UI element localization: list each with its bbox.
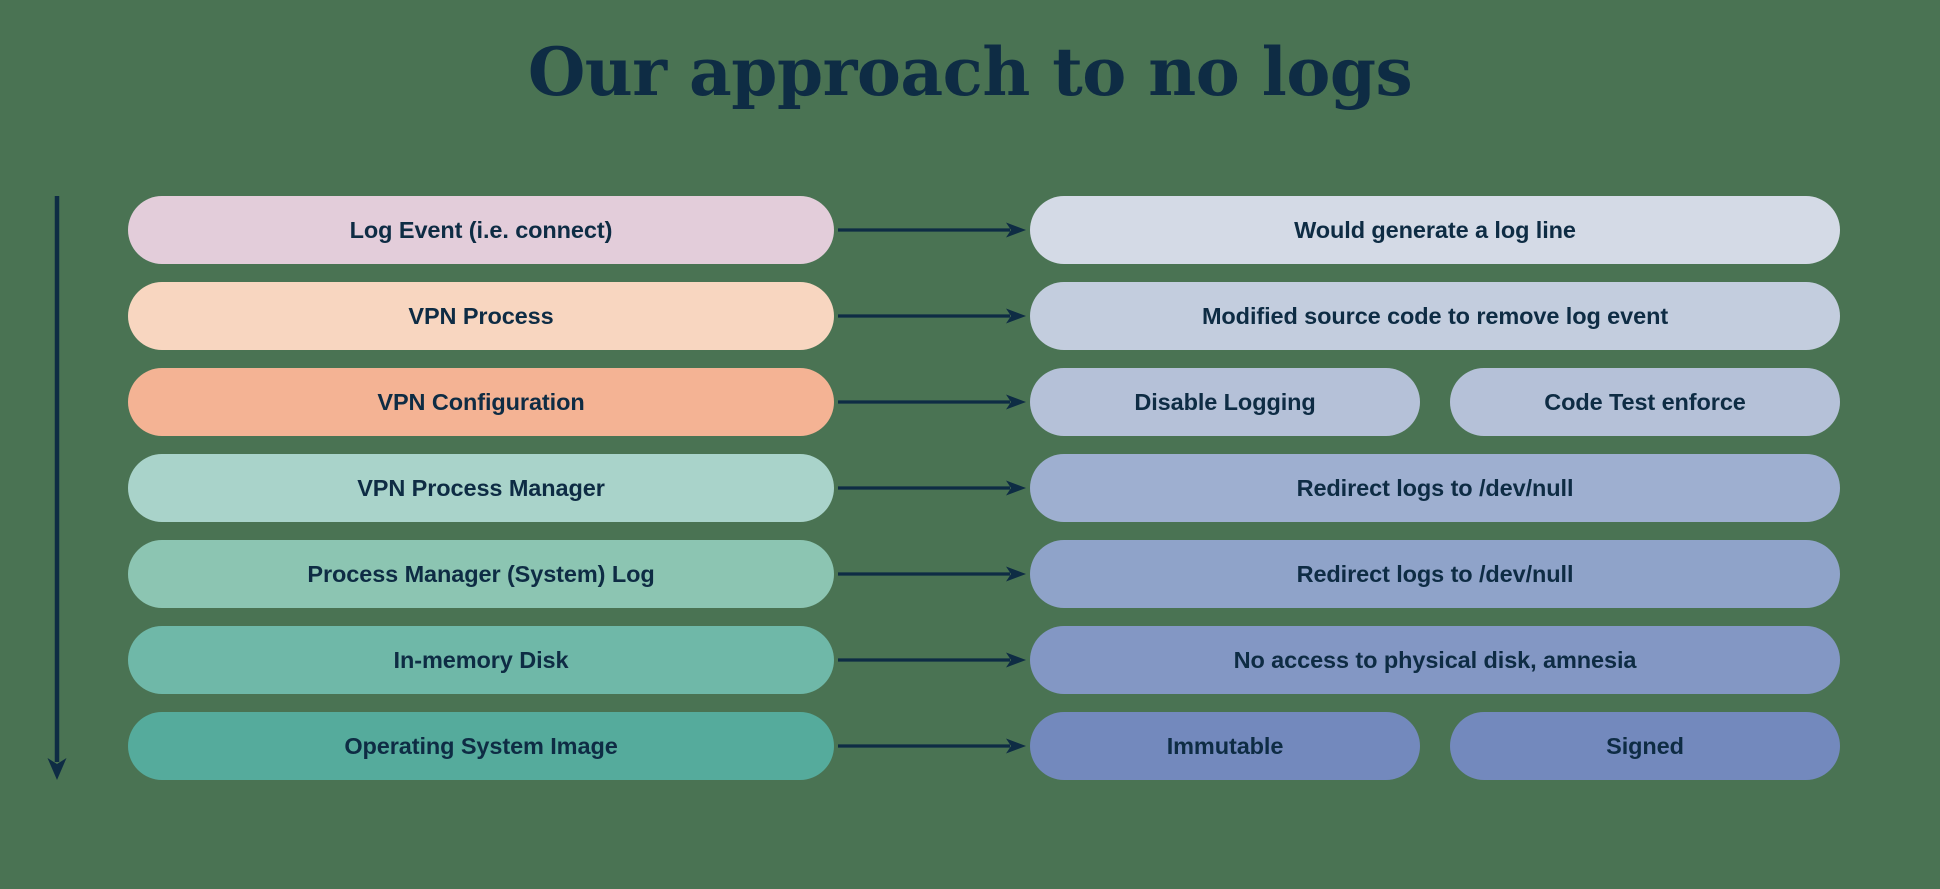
flow-row: Process Manager (System) LogRedirect log… — [0, 540, 1940, 608]
right-pill[interactable]: Code Test enforce — [1450, 368, 1840, 436]
arrow-right-icon — [838, 308, 1028, 324]
left-pill[interactable]: VPN Process Manager — [128, 454, 834, 522]
arrow-right-icon — [838, 222, 1028, 238]
flow-row: Operating System ImageImmutableSigned — [0, 712, 1940, 780]
left-pill[interactable]: Log Event (i.e. connect) — [128, 196, 834, 264]
right-pill[interactable]: Modified source code to remove log event — [1030, 282, 1840, 350]
arrow-right-icon — [838, 480, 1028, 496]
arrow-right-icon — [838, 394, 1028, 410]
right-pill[interactable]: Disable Logging — [1030, 368, 1420, 436]
left-pill[interactable]: Process Manager (System) Log — [128, 540, 834, 608]
flow-row: VPN ProcessModified source code to remov… — [0, 282, 1940, 350]
flow-row: In-memory DiskNo access to physical disk… — [0, 626, 1940, 694]
arrow-right-icon — [838, 738, 1028, 754]
right-pill[interactable]: Redirect logs to /dev/null — [1030, 454, 1840, 522]
left-pill[interactable]: Operating System Image — [128, 712, 834, 780]
flow-row: Log Event (i.e. connect)Would generate a… — [0, 196, 1940, 264]
right-pill[interactable]: Immutable — [1030, 712, 1420, 780]
arrow-right-icon — [838, 652, 1028, 668]
diagram-canvas: Our approach to no logs Log Event (i.e. … — [0, 0, 1940, 889]
flow-row: VPN Process ManagerRedirect logs to /dev… — [0, 454, 1940, 522]
left-pill[interactable]: VPN Process — [128, 282, 834, 350]
page-title: Our approach to no logs — [0, 36, 1940, 110]
right-pill[interactable]: Signed — [1450, 712, 1840, 780]
left-pill[interactable]: In-memory Disk — [128, 626, 834, 694]
left-pill[interactable]: VPN Configuration — [128, 368, 834, 436]
arrow-right-icon — [838, 566, 1028, 582]
right-pill[interactable]: Would generate a log line — [1030, 196, 1840, 264]
right-pill[interactable]: No access to physical disk, amnesia — [1030, 626, 1840, 694]
flow-row: VPN ConfigurationDisable LoggingCode Tes… — [0, 368, 1940, 436]
right-pill[interactable]: Redirect logs to /dev/null — [1030, 540, 1840, 608]
